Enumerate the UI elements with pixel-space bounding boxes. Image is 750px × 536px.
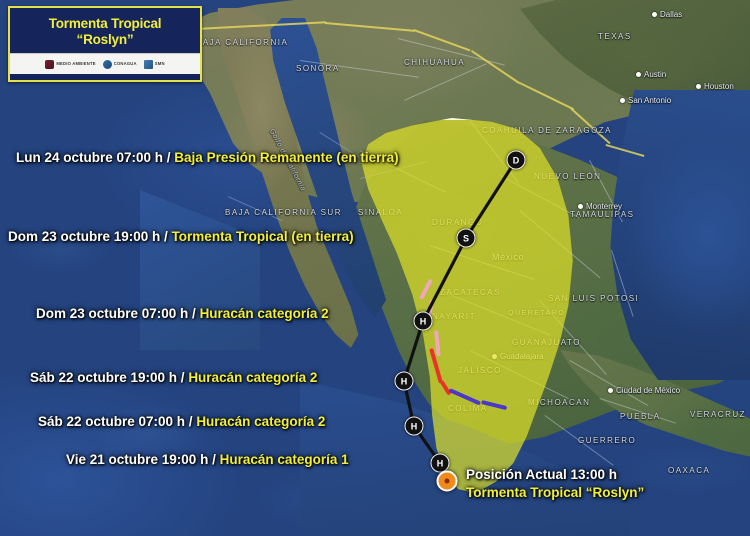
banner-title-line2: “Roslyn” xyxy=(77,32,134,48)
current-position-marker[interactable] xyxy=(437,471,458,492)
banner-footer-strip xyxy=(10,74,200,80)
title-banner-text: Tormenta Tropical “Roslyn” xyxy=(10,8,200,53)
track-marker-tropical-storm[interactable]: S xyxy=(457,229,476,248)
forecast-label-vie-21-1900: Vie 21 octubre 19:00 h / Huracán categor… xyxy=(66,452,349,467)
forecast-status: Tormenta Tropical (en tierra) xyxy=(172,229,354,244)
forecast-label-dom-23-0700: Dom 23 octubre 07:00 h / Huracán categor… xyxy=(36,306,329,321)
logo-conagua: CONAGUA xyxy=(103,60,137,69)
logo-medio-ambiente: MEDIO AMBIENTE xyxy=(45,60,95,69)
logo-label: MEDIO AMBIENTE xyxy=(56,62,95,66)
forecast-time: Vie 21 octubre 19:00 h / xyxy=(66,452,220,467)
forecast-status: Huracán categoría 2 xyxy=(200,306,329,321)
forecast-time: Dom 23 octubre 07:00 h / xyxy=(36,306,200,321)
forecast-time: Sáb 22 octubre 19:00 h / xyxy=(30,370,188,385)
cloud-icon xyxy=(144,60,153,69)
current-position-text: Posición Actual 13:00 h Tormenta Tropica… xyxy=(466,466,644,502)
forecast-time: Dom 23 octubre 19:00 h / xyxy=(8,229,172,244)
track-marker-hurricane-cat2-b[interactable]: H xyxy=(395,372,414,391)
forecast-label-lun-24-0700: Lun 24 octubre 07:00 h / Baja Presión Re… xyxy=(16,150,399,165)
forecast-status: Huracán categoría 2 xyxy=(188,370,317,385)
logo-label: SMN xyxy=(155,62,165,66)
forecast-label-sab-22-1900: Sáb 22 octubre 19:00 h / Huracán categor… xyxy=(30,370,317,385)
track-marker-hurricane-cat2-a[interactable]: H xyxy=(414,312,433,331)
agency-logo-bar: MEDIO AMBIENTE CONAGUA SMN xyxy=(10,53,200,74)
storm-track-map: BAJA CALIFORNIA BAJA CALIFORNIA SUR SONO… xyxy=(0,0,750,536)
forecast-label-sab-22-0700: Sáb 22 octubre 07:00 h / Huracán categor… xyxy=(38,414,325,429)
water-drop-icon xyxy=(103,60,112,69)
forecast-status: Huracán categoría 2 xyxy=(196,414,325,429)
banner-title-line1: Tormenta Tropical xyxy=(49,16,162,32)
forecast-status: Baja Presión Remanente (en tierra) xyxy=(174,150,398,165)
forecast-time: Lun 24 octubre 07:00 h / xyxy=(16,150,174,165)
eagle-emblem-icon xyxy=(45,60,54,69)
current-position-storm-name: Tormenta Tropical “Roslyn” xyxy=(466,484,644,502)
forecast-time: Sáb 22 octubre 07:00 h / xyxy=(38,414,196,429)
forecast-status: Huracán categoría 1 xyxy=(220,452,349,467)
current-position-label: Posición Actual 13:00 h xyxy=(466,466,644,484)
title-banner: Tormenta Tropical “Roslyn” MEDIO AMBIENT… xyxy=(8,6,202,82)
logo-smn: SMN xyxy=(144,60,165,69)
forecast-label-dom-23-1900: Dom 23 octubre 19:00 h / Tormenta Tropic… xyxy=(8,229,354,244)
track-marker-hurricane-cat2-c[interactable]: H xyxy=(405,417,424,436)
logo-label: CONAGUA xyxy=(114,62,137,66)
track-marker-remnant-low[interactable]: D xyxy=(507,151,526,170)
